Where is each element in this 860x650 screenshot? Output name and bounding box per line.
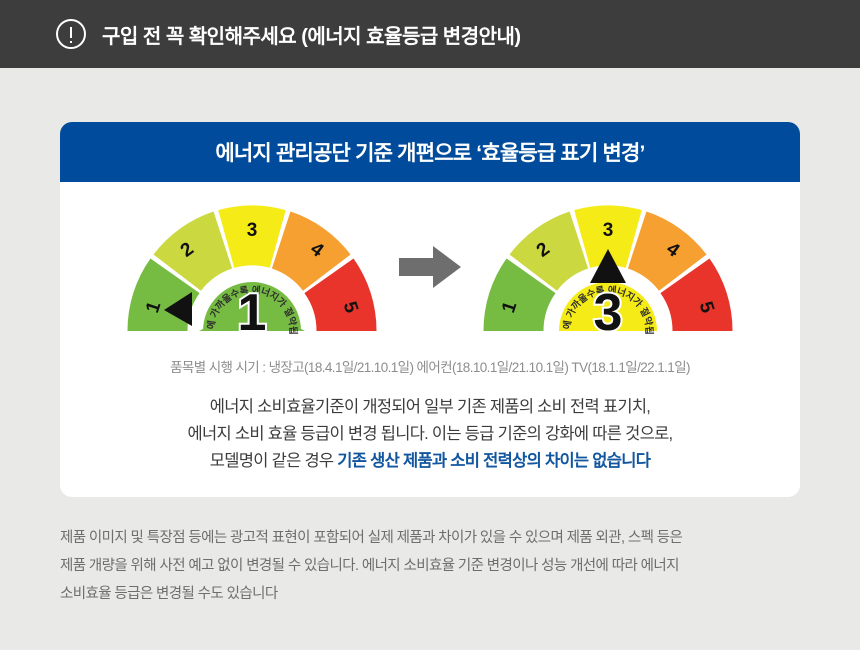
right-arrow-icon (399, 246, 461, 288)
body-copy-highlight: 기존 생산 제품과 소비 전력상의 차이는 없습니다 (337, 452, 650, 470)
disclaimer-line-2: 제품 개량을 위해 사전 예고 없이 변경될 수 있습니다. 에너지 소비효율 … (60, 552, 800, 580)
disclaimer-line-1: 제품 이미지 및 특장점 등에는 광고적 표현이 포함되어 실제 제품과 차이가… (60, 524, 800, 552)
body-copy: 에너지 소비효율기준이 개정되어 일부 기존 제품의 소비 전력 표기치, 에너… (60, 394, 800, 475)
energy-grade-card: 에너지 관리공단 기준 개편으로 ‘효율등급 표기 변경’ 1 2 3 4 5 (60, 122, 800, 497)
after-gauge-grade: 3 (594, 284, 623, 342)
body-copy-line-1: 에너지 소비효율기준이 개정되어 일부 기존 제품의 소비 전력 표기치, (60, 394, 800, 421)
body-copy-line-2: 에너지 소비 효율 등급이 변경 됩니다. 이는 등급 기준의 강화에 따른 것… (60, 421, 800, 448)
body-copy-line-3-prefix: 모델명이 같은 경우 (210, 452, 338, 470)
before-gauge: 1 2 3 4 5 1등급에 가까울수록 에너지가 절약됩니다 1 (117, 196, 387, 338)
notice-bar: 구입 전 꼭 확인해주세요 (에너지 효율등급 변경안내) (0, 0, 860, 68)
gauge-comparison: 1 2 3 4 5 1등급에 가까울수록 에너지가 절약됩니다 1 (60, 182, 800, 352)
transition-arrow (387, 237, 473, 297)
card-header: 에너지 관리공단 기준 개편으로 ‘효율등급 표기 변경’ (60, 122, 800, 182)
disclaimer: 제품 이미지 및 특장점 등에는 광고적 표현이 포함되어 실제 제품과 차이가… (60, 524, 800, 608)
exclamation-circle-icon (56, 19, 86, 49)
after-gauge: 1 2 3 4 5 1등급에 가까울수록 에너지가 절약됩니다 3 (473, 196, 743, 338)
svg-text:3: 3 (603, 220, 614, 241)
before-gauge-grade: 1 (238, 284, 267, 342)
schedule-note: 품목별 시행 시기 : 냉장고(18.4.1일/21.10.1일) 에어컨(18… (60, 356, 800, 376)
notice-title: 구입 전 꼭 확인해주세요 (에너지 효율등급 변경안내) (102, 20, 521, 49)
svg-text:3: 3 (247, 220, 258, 241)
disclaimer-line-3: 소비효율 등급은 변경될 수도 있습니다 (60, 580, 800, 608)
body-copy-line-3: 모델명이 같은 경우 기존 생산 제품과 소비 전력상의 차이는 없습니다 (60, 448, 800, 475)
card-header-title: 에너지 관리공단 기준 개편으로 ‘효율등급 표기 변경’ (215, 137, 644, 167)
